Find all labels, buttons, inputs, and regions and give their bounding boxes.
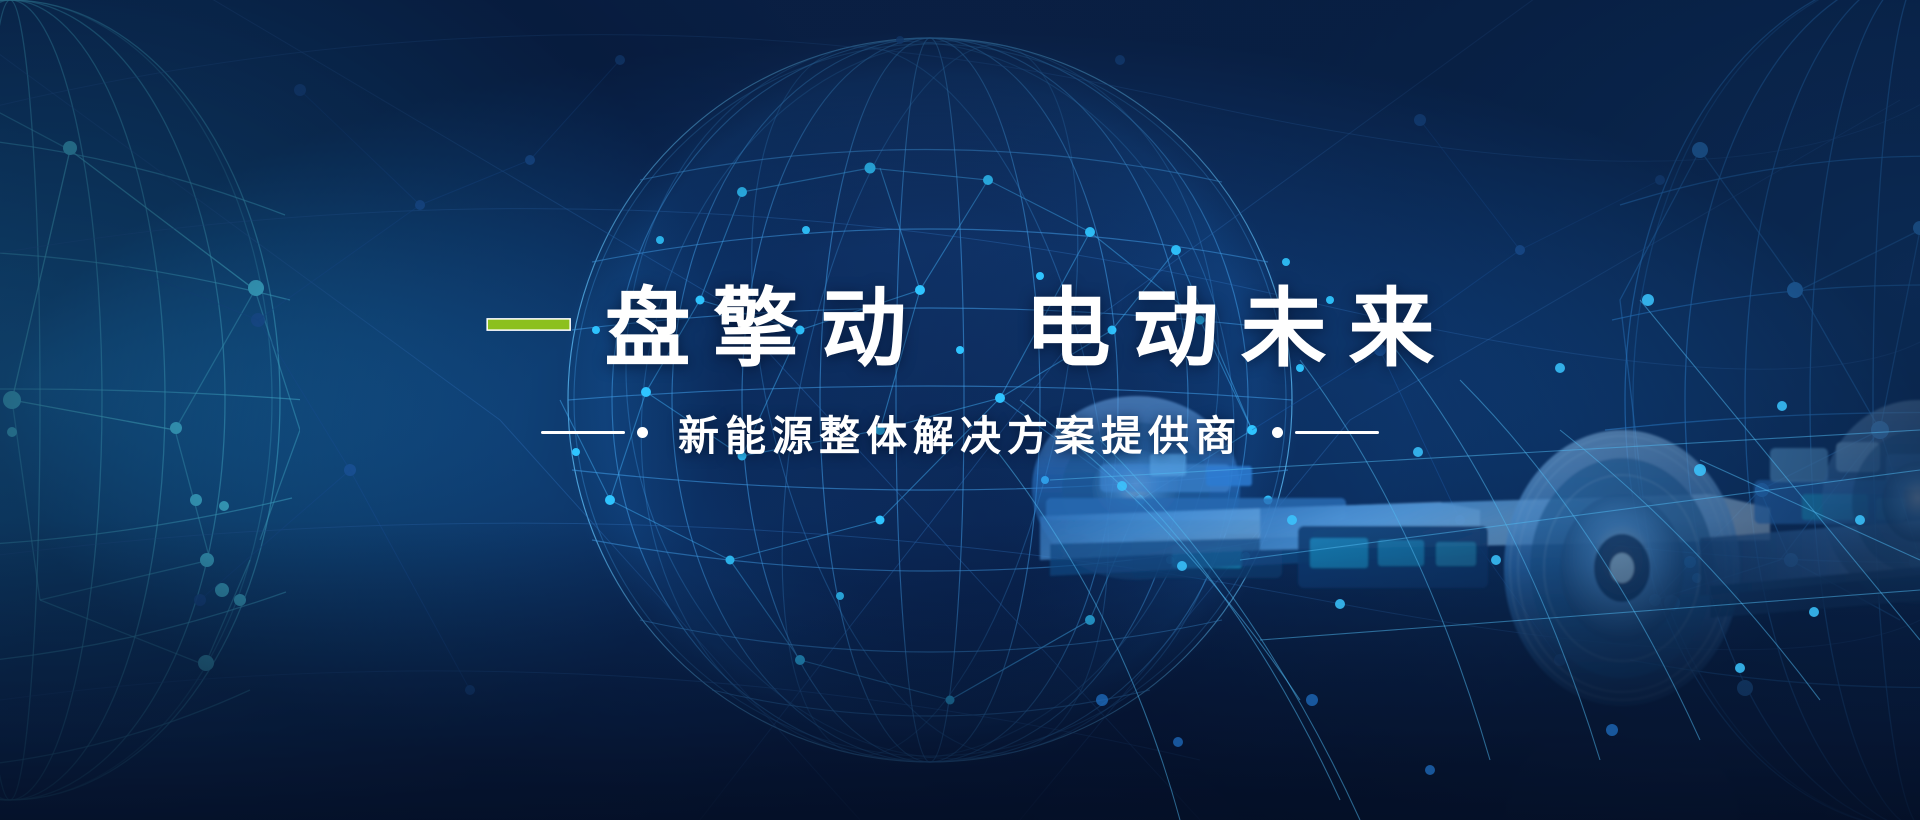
headline-char-2: 擎	[713, 286, 799, 372]
decoration-line-right	[1295, 431, 1379, 434]
subtitle-row: 新能源整体解决方案提供商	[0, 402, 1920, 462]
headline-char-4: 电	[1025, 286, 1111, 372]
headline-left-group: 一 盘 擎 动	[475, 286, 918, 372]
headline-char-6: 未	[1241, 286, 1327, 372]
hero-text-block: 一 盘 擎 动 电 动 未 来 新能源整体解决方案提供商	[0, 286, 1920, 462]
headline-char-7: 来	[1349, 286, 1435, 372]
headline-accent-char: 一	[486, 286, 572, 372]
decoration-dot-left	[637, 427, 648, 438]
decoration-line-left	[541, 431, 625, 434]
subtitle-text: 新能源整体解决方案提供商	[648, 402, 1272, 462]
headline-char-3: 动	[821, 286, 907, 372]
headline-char-5: 动	[1133, 286, 1219, 372]
headline: 一 盘 擎 动 电 动 未 来	[0, 286, 1920, 372]
headline-right-group: 电 动 未 来	[1014, 286, 1446, 372]
hero-banner: 一 盘 擎 动 电 动 未 来 新能源整体解决方案提供商	[0, 0, 1920, 820]
subtitle-decoration-left	[541, 427, 648, 438]
subtitle-decoration-right	[1272, 427, 1379, 438]
decoration-dot-right	[1272, 427, 1283, 438]
headline-char-1: 盘	[605, 286, 691, 372]
